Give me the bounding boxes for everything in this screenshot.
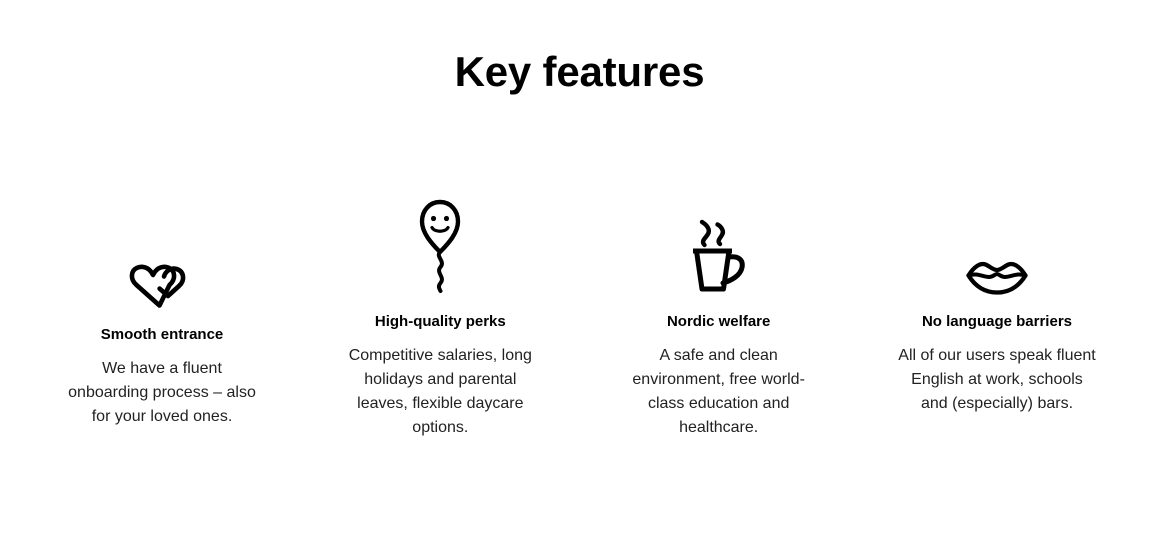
feature-description: Competitive salaries, long holidays and … — [338, 344, 543, 440]
feature-card-no-language-barriers: No language barriers All of our users sp… — [858, 180, 1136, 416]
smiley-balloon-icon — [419, 180, 461, 295]
feature-card-high-quality-perks: High-quality perks Competitive salaries,… — [301, 180, 579, 440]
features-grid: Smooth entrance We have a fluent onboard… — [23, 180, 1136, 440]
feature-card-smooth-entrance: Smooth entrance We have a fluent onboard… — [23, 180, 301, 429]
lips-icon — [965, 180, 1029, 295]
steaming-coffee-cup-icon — [690, 180, 748, 295]
feature-description: All of our users speak fluent English at… — [897, 344, 1097, 416]
feature-title: Smooth entrance — [101, 324, 224, 346]
feature-description: A safe and clean environment, free world… — [621, 344, 816, 440]
feature-card-nordic-welfare: Nordic welfare A safe and clean environm… — [580, 180, 858, 440]
two-hearts-icon — [126, 180, 198, 308]
feature-description: We have a fluent onboarding process – al… — [62, 357, 262, 429]
page-title: Key features — [0, 44, 1159, 100]
key-features-section: Key features Smooth entrance We have a f… — [0, 0, 1159, 534]
feature-title: High-quality perks — [375, 311, 506, 333]
feature-title: No language barriers — [922, 311, 1072, 333]
feature-title: Nordic welfare — [667, 311, 770, 333]
